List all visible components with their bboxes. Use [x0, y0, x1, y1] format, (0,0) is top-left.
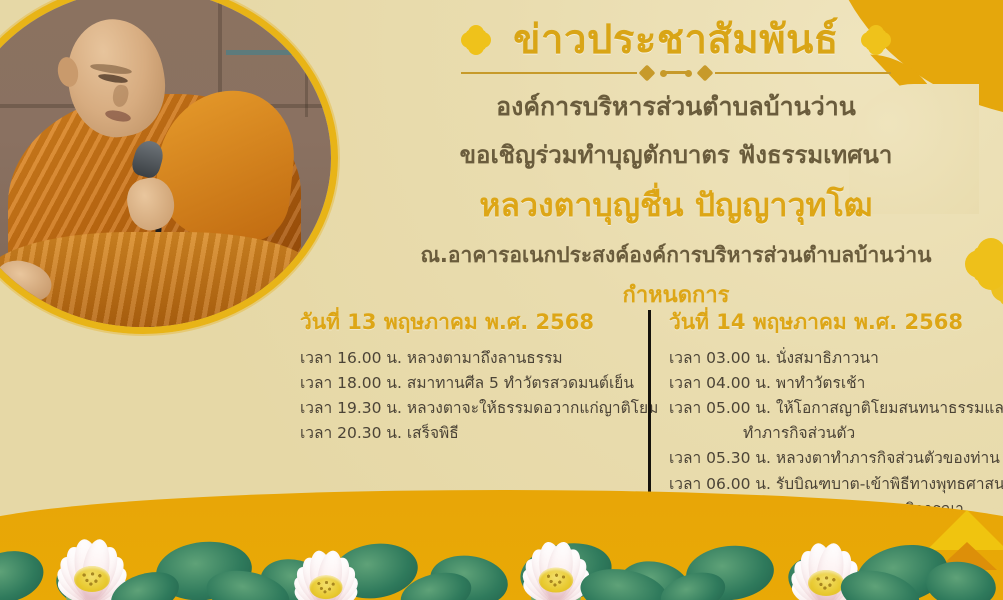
- quatrefoil-icon-edge-2: [991, 262, 1003, 314]
- schedule-item: เวลา 04.00 น. พาทำวัตรเช้า: [669, 371, 990, 396]
- portrait-image: [0, 0, 331, 327]
- schedule-item: เวลา 20.30 น. เสร็จพิธี: [300, 421, 623, 446]
- wall-strip: [226, 50, 324, 55]
- invitation-line: ขอเชิญร่วมทำบุญตักบาตร ฟังธรรมเทศนา: [360, 137, 992, 173]
- day1-item-list: เวลา 16.00 น. หลวงตามาถึงลานธรรมเวลา 18.…: [300, 346, 623, 446]
- header-block: ข่าวประชาสัมพันธ์ องค์การบริหารส่วนตำบลบ…: [360, 18, 992, 311]
- day2-heading: วันที่ 14 พฤษภาคม พ.ศ. 2568: [669, 306, 990, 339]
- poster-canvas: ข่าวประชาสัมพันธ์ องค์การบริหารส่วนตำบลบ…: [0, 0, 1003, 600]
- schedule-item: เวลา 03.00 น. นั่งสมาธิภาวนา: [669, 346, 990, 371]
- quatrefoil-icon-right: [861, 25, 891, 55]
- lotus-center: [74, 566, 110, 592]
- monk-portrait: [0, 0, 338, 334]
- lotus-flower-band: [0, 490, 1003, 600]
- wall-seam-vertical-2: [305, 0, 308, 117]
- schedule-item: เวลา 05.30 น. หลวงตาทำภารกิจส่วนตัวของท่…: [669, 446, 990, 471]
- schedule-item: ทำภารกิจส่วนตัว: [669, 421, 990, 446]
- lotus-center: [539, 568, 574, 593]
- schedule-item: เวลา 19.30 น. หลวงตาจะให้ธรรมดอวากแก่ญาต…: [300, 396, 623, 421]
- quatrefoil-icon-left: [461, 25, 491, 55]
- venue-line: ณ.อาคารอเนกประสงค์องค์การบริหารส่วนตำบลบ…: [360, 240, 992, 270]
- organization-name: องค์การบริหารส่วนตำบลบ้านว่าน: [360, 88, 992, 126]
- page-title: ข่าวประชาสัมพันธ์: [513, 18, 839, 63]
- schedule-item: เวลา 05.00 น. ให้โอกาสญาติโยมสนทนาธรรมแล…: [669, 396, 990, 421]
- schedule-item: เวลา 18.00 น. สมาทานศีล 5 ทำวัตรสวดมนต์เ…: [300, 371, 623, 396]
- title-row: ข่าวประชาสัมพันธ์: [360, 18, 992, 63]
- lotus-center: [309, 575, 342, 599]
- schedule-item: เวลา 16.00 น. หลวงตามาถึงลานธรรม: [300, 346, 623, 371]
- day1-heading: วันที่ 13 พฤษภาคม พ.ศ. 2568: [300, 306, 623, 339]
- monk-name: หลวงตาบุญชื่น ปัญญาวุทโฒ: [360, 183, 992, 228]
- lotus-center: [808, 570, 844, 596]
- ornamental-divider: [461, 66, 891, 80]
